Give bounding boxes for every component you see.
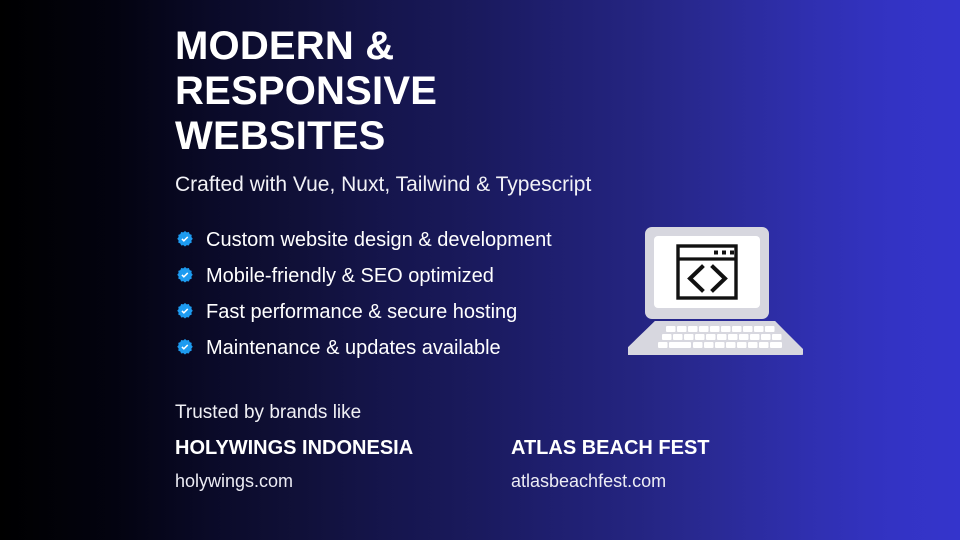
headline-line-2: RESPONSIVE	[175, 69, 645, 114]
headline-line-1: MODERN &	[175, 24, 645, 69]
brand-name: ATLAS BEACH FEST	[511, 436, 847, 461]
verified-badge-icon	[175, 338, 195, 358]
laptop-code-icon	[628, 226, 803, 358]
verified-badge-icon	[175, 302, 195, 322]
brand-item: ATLAS BEACH FEST atlasbeachfest.com	[511, 436, 847, 492]
brand-name: HOLYWINGS INDONESIA	[175, 436, 511, 461]
feature-label: Mobile-friendly & SEO optimized	[206, 265, 494, 287]
list-item: Maintenance & updates available	[175, 330, 552, 366]
content-column: MODERN & RESPONSIVE WEBSITES Crafted wit…	[175, 0, 645, 540]
page-title: MODERN & RESPONSIVE WEBSITES	[175, 24, 645, 159]
feature-list: Custom website design & development Mobi…	[175, 222, 552, 366]
trusted-by-label: Trusted by brands like	[175, 400, 361, 425]
list-item: Mobile-friendly & SEO optimized	[175, 258, 552, 294]
feature-label: Maintenance & updates available	[206, 337, 501, 359]
list-item: Custom website design & development	[175, 222, 552, 258]
feature-label: Custom website design & development	[206, 229, 552, 251]
verified-badge-icon	[175, 230, 195, 250]
subtitle: Crafted with Vue, Nuxt, Tailwind & Types…	[175, 171, 591, 198]
brand-list: HOLYWINGS INDONESIA holywings.com ATLAS …	[175, 436, 875, 492]
feature-label: Fast performance & secure hosting	[206, 301, 517, 323]
headline-line-3: WEBSITES	[175, 114, 645, 159]
promo-slide: MODERN & RESPONSIVE WEBSITES Crafted wit…	[0, 0, 960, 540]
verified-badge-icon	[175, 266, 195, 286]
list-item: Fast performance & secure hosting	[175, 294, 552, 330]
brand-website[interactable]: holywings.com	[175, 470, 511, 492]
brand-item: HOLYWINGS INDONESIA holywings.com	[175, 436, 511, 492]
brand-website[interactable]: atlasbeachfest.com	[511, 470, 847, 492]
